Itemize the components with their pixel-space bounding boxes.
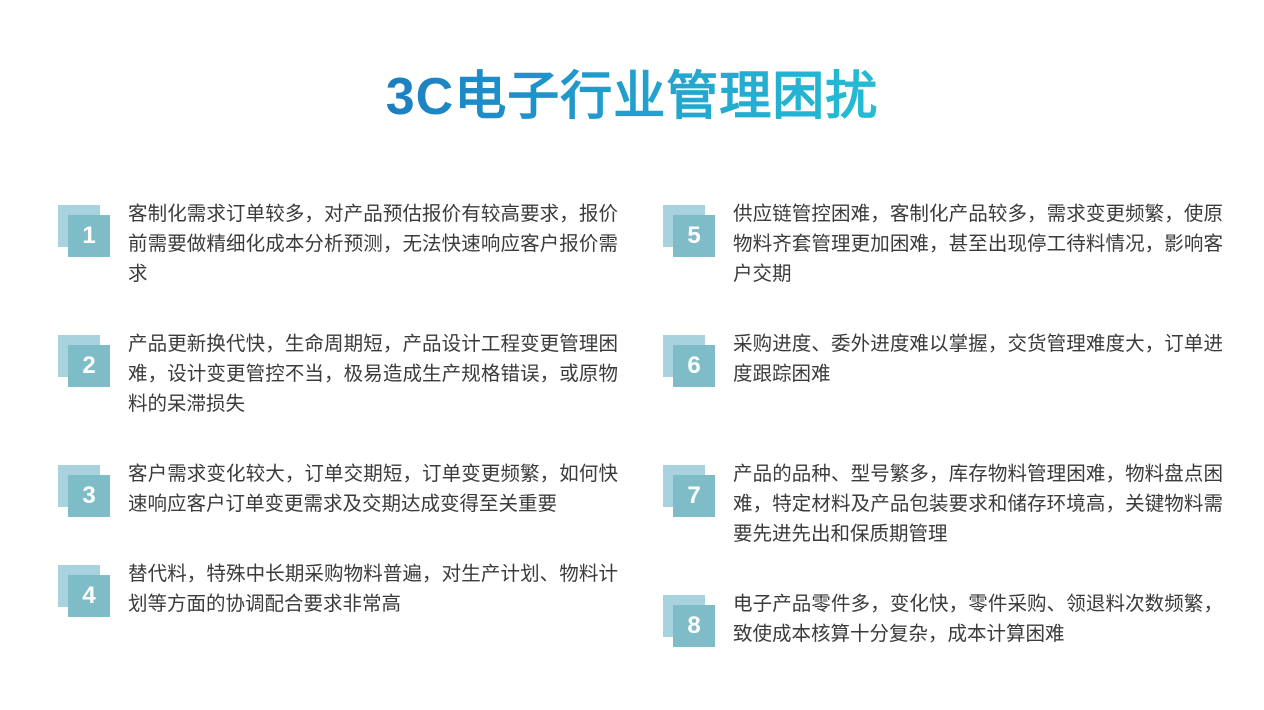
badge-front-square: 3	[68, 475, 110, 517]
list-item: 7 产品的品种、型号繁多，库存物料管理困难，物料盘点困难，特定材料及产品包装要求…	[663, 445, 1223, 549]
list-item-text: 替代料，特殊中长期采购物料普遍，对生产计划、物料计划等方面的协调配合要求非常高	[128, 545, 618, 619]
badge-number: 7	[687, 484, 700, 508]
slide-canvas: 3C电子行业管理困扰 1 客制化需求订单较多，对产品预估报价有较高要求，报价前需…	[0, 0, 1264, 710]
list-item-text: 电子产品零件多，变化快，零件采购、领退料次数频繁，致使成本核算十分复杂，成本计算…	[733, 575, 1223, 649]
list-item: 6 采购进度、委外进度难以掌握，交货管理难度大，订单进度跟踪困难	[663, 315, 1223, 389]
content-columns: 1 客制化需求订单较多，对产品预估报价有较高要求，报价前需要做精细化成本分析预测…	[0, 185, 1264, 685]
number-badge: 1	[58, 205, 110, 257]
list-item-text: 供应链管控困难，客制化产品较多，需求变更频繁，使原物料齐套管理更加困难，甚至出现…	[733, 185, 1223, 289]
badge-front-square: 8	[673, 605, 715, 647]
page-title: 3C电子行业管理困扰	[386, 65, 878, 129]
number-badge: 6	[663, 335, 715, 387]
badge-number: 2	[82, 354, 95, 378]
badge-number: 5	[687, 224, 700, 248]
badge-number: 4	[82, 584, 95, 608]
badge-front-square: 6	[673, 345, 715, 387]
badge-number: 1	[82, 224, 95, 248]
list-item-text: 客制化需求订单较多，对产品预估报价有较高要求，报价前需要做精细化成本分析预测，无…	[128, 185, 618, 289]
list-item-text: 产品的品种、型号繁多，库存物料管理困难，物料盘点困难，特定材料及产品包装要求和储…	[733, 445, 1223, 549]
badge-number: 8	[687, 614, 700, 638]
badge-number: 6	[687, 354, 700, 378]
list-item: 1 客制化需求订单较多，对产品预估报价有较高要求，报价前需要做精细化成本分析预测…	[58, 185, 618, 289]
number-badge: 3	[58, 465, 110, 517]
badge-front-square: 1	[68, 215, 110, 257]
badge-front-square: 4	[68, 575, 110, 617]
number-badge: 7	[663, 465, 715, 517]
list-item: 4 替代料，特殊中长期采购物料普遍，对生产计划、物料计划等方面的协调配合要求非常…	[58, 545, 618, 619]
badge-front-square: 2	[68, 345, 110, 387]
number-badge: 8	[663, 595, 715, 647]
list-item-text: 采购进度、委外进度难以掌握，交货管理难度大，订单进度跟踪困难	[733, 315, 1223, 389]
title-container: 3C电子行业管理困扰	[0, 30, 1264, 164]
list-item-text: 产品更新换代快，生命周期短，产品设计工程变更管理困难，设计变更管控不当，极易造成…	[128, 315, 618, 419]
list-item: 8 电子产品零件多，变化快，零件采购、领退料次数频繁，致使成本核算十分复杂，成本…	[663, 575, 1223, 649]
number-badge: 5	[663, 205, 715, 257]
badge-front-square: 5	[673, 215, 715, 257]
left-column: 1 客制化需求订单较多，对产品预估报价有较高要求，报价前需要做精细化成本分析预测…	[58, 185, 618, 619]
number-badge: 4	[58, 565, 110, 617]
right-column: 5 供应链管控困难，客制化产品较多，需求变更频繁，使原物料齐套管理更加困难，甚至…	[663, 185, 1223, 649]
badge-number: 3	[82, 484, 95, 508]
list-item: 2 产品更新换代快，生命周期短，产品设计工程变更管理困难，设计变更管控不当，极易…	[58, 315, 618, 419]
list-item-text: 客户需求变化较大，订单交期短，订单变更频繁，如何快速响应客户订单变更需求及交期达…	[128, 445, 618, 519]
number-badge: 2	[58, 335, 110, 387]
badge-front-square: 7	[673, 475, 715, 517]
list-item: 5 供应链管控困难，客制化产品较多，需求变更频繁，使原物料齐套管理更加困难，甚至…	[663, 185, 1223, 289]
list-item: 3 客户需求变化较大，订单交期短，订单变更频繁，如何快速响应客户订单变更需求及交…	[58, 445, 618, 519]
